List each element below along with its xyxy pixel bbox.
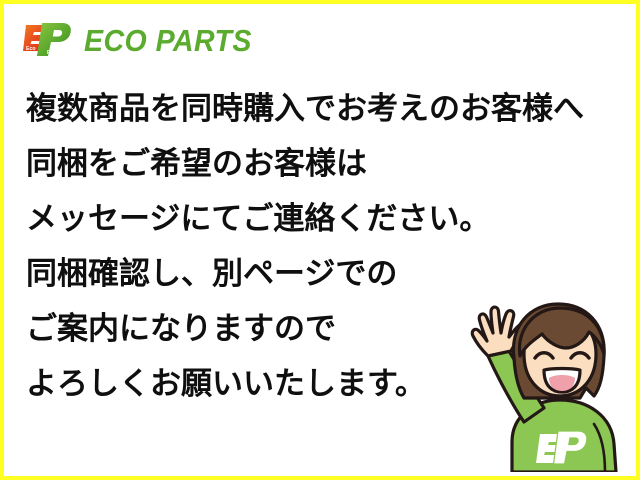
brand-wordmark: ECO PARTS [84, 22, 252, 56]
message-line-3: メッセージにてご連絡ください。 [26, 192, 626, 247]
mascot-mouth [544, 369, 580, 393]
monogram-sub-eco: Eco [26, 46, 36, 52]
brand-header: Eco Parts ECO PARTS [22, 16, 267, 62]
message-line-1: 複数商品を同時購入でお考えのお客様へ [26, 82, 626, 137]
smiling-woman-waving-illustration [454, 292, 632, 472]
eco-parts-notice-banner: Eco Parts ECO PARTS 複数商品を同時購入でお考えのお客様へ 同… [0, 0, 640, 480]
eco-parts-monogram-icon: Eco Parts [22, 19, 74, 59]
message-line-2: 同梱をご希望のお客様は [26, 137, 626, 192]
monogram-sub-parts: Parts [47, 50, 60, 56]
